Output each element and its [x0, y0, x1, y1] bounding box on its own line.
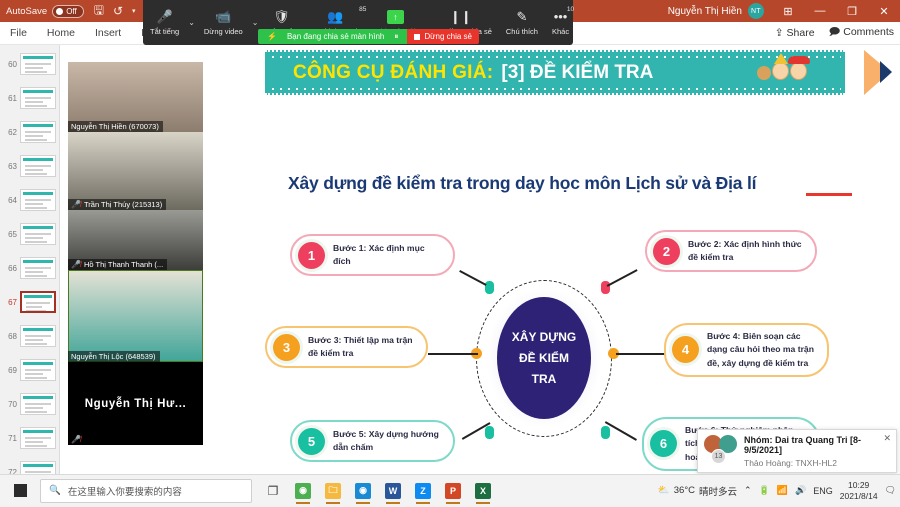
thumbnail-item[interactable]: 69 [0, 353, 59, 387]
step-number-4: 4 [672, 336, 699, 363]
thumbnail-item[interactable]: 67 [0, 285, 59, 319]
thumbnail-number: 63 [2, 162, 17, 171]
network-icon[interactable]: 📶 [777, 485, 788, 496]
step-card-2[interactable]: 2 Bước 2: Xác định hình thức đề kiểm tra [645, 230, 817, 272]
slide-thumbnail-pane[interactable]: 606162636465666768697071727374 [0, 45, 60, 484]
more-ellipsis-icon: ••• [554, 9, 568, 25]
bear-icon [757, 66, 771, 80]
thumbnail-item[interactable]: 71 [0, 421, 59, 455]
powerpoint-icon[interactable]: P [440, 477, 466, 505]
edge-icon[interactable]: ◉ [350, 477, 376, 505]
tab-file[interactable]: File [0, 24, 37, 42]
video-camera-icon: 📹 [215, 9, 231, 25]
zoom-toolbar-badge: 85 [359, 6, 366, 13]
thumbnail-number: 60 [2, 60, 17, 69]
thumbnail-item[interactable]: 64 [0, 183, 59, 217]
chevron-down-icon[interactable]: ⌄ [250, 18, 261, 27]
thumbnail-number: 64 [2, 196, 17, 205]
center-oval: XÂY DỰNG ĐỀ KIỂM TRA [497, 297, 591, 419]
thumbnail-preview[interactable] [20, 87, 56, 109]
toast-close-icon[interactable]: ✕ [883, 433, 891, 444]
kid-yellow-hat-icon [772, 62, 789, 80]
thumbnail-number: 62 [2, 128, 17, 137]
step-card-1[interactable]: 1 Bước 1: Xác định mục đích [290, 234, 455, 276]
start-button[interactable] [0, 475, 40, 507]
thumbnail-item[interactable]: 63 [0, 149, 59, 183]
step-number-1: 1 [298, 242, 325, 269]
weather-temperature: 36°C [674, 485, 695, 496]
thumbnail-number: 71 [2, 434, 17, 443]
ribbon-right-actions: ⇪Share 🗩Comments [775, 24, 894, 42]
thumbnail-number: 61 [2, 94, 17, 103]
thumbnail-preview[interactable] [20, 257, 56, 279]
thumbnail-preview[interactable] [20, 359, 56, 381]
chevron-down-icon[interactable]: ⌄ [186, 18, 197, 27]
connector-3 [428, 353, 478, 355]
thumbnail-number: 69 [2, 366, 17, 375]
zoom-toolbar-annotate-pencil[interactable]: ✎Chú thích [499, 0, 545, 45]
annotate-pencil-icon: ✎ [516, 9, 527, 25]
thumbnail-item[interactable]: 60 [0, 47, 59, 81]
shield-icon: 🛡 [273, 9, 290, 25]
toast-avatar-group: 13 [704, 435, 738, 467]
pencil-lead-icon [880, 61, 892, 83]
thumbnail-item[interactable]: 65 [0, 217, 59, 251]
video-tile-name: Nguyễn Thị Lộc (648539) [71, 352, 156, 361]
microphone-muted-icon: 🎤̸ [71, 435, 81, 444]
step-number-6: 6 [650, 430, 677, 457]
share-icon: ⇪ [775, 27, 784, 39]
video-tile-name: Hồ Thị Thanh Thanh (... [84, 260, 163, 269]
video-tile-name-bar: Nguyễn Thị Hiền (670073) [68, 121, 163, 132]
step-number-5: 5 [298, 428, 325, 455]
volume-icon[interactable]: 🔊 [795, 485, 806, 496]
banner-dots-bottom-icon [269, 87, 841, 90]
video-tile-name: Nguyễn Thị Hư... [85, 398, 187, 410]
task-view-icon[interactable]: ❐ [260, 477, 286, 505]
kid-red-hat-icon [790, 62, 807, 80]
share-label: Share [787, 27, 815, 39]
minimize-button[interactable]: — [804, 0, 836, 22]
video-tile[interactable]: Nguyễn Thị Hư...🎤̸ [68, 362, 203, 445]
zoom-toolbar-label: Khác [552, 27, 569, 36]
chat-notification-toast[interactable]: ✕ 13 Nhóm: Dai tra Quang Tri [8-9/5/2021… [697, 429, 897, 473]
edge-icon-glyph: ◉ [355, 483, 371, 499]
thumbnail-preview[interactable] [20, 393, 56, 415]
microphone-muted-icon: 🎤̸ [71, 260, 81, 269]
center-line-1: XÂY DỰNG [512, 327, 576, 348]
microphone-muted-icon: 🎤̸ [71, 200, 81, 209]
chrome-icon[interactable]: ◉ [290, 477, 316, 505]
zoom-share-status-bar: ⚡ Bạn đang chia sẻ màn hình ⏸ Dừng chia … [258, 29, 479, 44]
stop-square-icon [414, 34, 420, 40]
thumbnail-number: 70 [2, 400, 17, 409]
banner-title-primary: CÔNG CỤ ĐÁNH GIÁ: [293, 62, 493, 84]
comments-button[interactable]: 🗩Comments [829, 24, 894, 42]
battery-icon[interactable]: 🔋 [759, 485, 770, 496]
zoom-toolbar-badge: 10 [567, 6, 574, 13]
microphone-icon: 🎤 [157, 9, 173, 25]
step-card-3[interactable]: 3 Bước 3: Thiết lập ma trận đề kiểm tra [265, 326, 428, 368]
step-number-3: 3 [273, 334, 300, 361]
chrome-icon-glyph: ◉ [295, 483, 311, 499]
search-placeholder: 在这里输入你要搜索的内容 [68, 484, 182, 498]
tray-expand-icon[interactable]: ⌃ [744, 485, 752, 496]
weather-widget[interactable]: ⛅ 36°C 晴时多云 [658, 484, 737, 498]
avatar[interactable]: NT [748, 3, 764, 19]
thumbnail-preview[interactable] [20, 325, 56, 347]
zoom-toolbar-label: Chú thích [506, 27, 538, 36]
heading-rule [806, 193, 852, 196]
sharing-notice: ⚡ Bạn đang chia sẻ màn hình ⏸ [258, 29, 407, 44]
zoom-toolbar-microphone[interactable]: 🎤Tắt tiếng [143, 0, 186, 45]
autosave-label: AutoSave [6, 6, 47, 17]
file-explorer-icon-glyph: 🗀 [325, 483, 341, 499]
taskbar-search-box[interactable]: 🔍 在这里输入你要搜索的内容 [40, 479, 252, 503]
windows-taskbar: 🔍 在这里输入你要搜索的内容 ❐◉🗀◉WZPX ⛅ 36°C 晴时多云 ⌃ 🔋 … [0, 474, 900, 506]
video-tile-name-bar: 🎤̸Hồ Thị Thanh Thanh (... [68, 259, 167, 270]
zoom-toolbar-label: Dừng video [204, 27, 243, 36]
thumbnail-item[interactable]: 68 [0, 319, 59, 353]
comment-icon: 🗩 [829, 26, 841, 38]
zalo-icon[interactable]: Z [410, 477, 436, 505]
autosave-state: Off [66, 7, 77, 16]
undo-icon[interactable]: ↺ [113, 4, 123, 18]
chevron-down-icon[interactable]: ▾ [132, 7, 136, 15]
powerpoint-icon-glyph: P [445, 483, 461, 499]
center-line-3: TRA [532, 369, 557, 390]
sharing-notice-label: Bạn đang chia sẻ màn hình [287, 32, 384, 41]
clock-time: 10:29 [840, 480, 878, 491]
zoom-toolbar-more-ellipsis[interactable]: •••Khác10 [545, 0, 576, 45]
thumbnail-preview[interactable] [20, 121, 56, 143]
banner-dots-top-icon [269, 55, 841, 58]
autosave-control[interactable]: AutoSave Off [0, 5, 84, 18]
tab-insert[interactable]: Insert [85, 24, 131, 42]
excel-icon-glyph: X [475, 483, 491, 499]
step-card-5[interactable]: 5 Bước 5: Xây dựng hướng dẫn chấm [290, 420, 455, 462]
save-icon[interactable]: 🖫 [94, 1, 104, 22]
video-tile[interactable]: Nguyễn Thị Hiền (670073) [68, 62, 203, 132]
thumbnail-number: 66 [2, 264, 17, 273]
ring-dot-tl [485, 281, 494, 294]
search-icon: 🔍 [49, 485, 61, 496]
toast-message: Thảo Hoàng: TNXH-HL2 [744, 458, 890, 468]
ribbon-display-options-icon[interactable]: ⊞ [772, 0, 804, 22]
connector-4 [616, 353, 666, 355]
participants-icon: 👥 [327, 9, 343, 25]
zoom-toolbar-video-camera[interactable]: 📹Dừng video [197, 0, 250, 45]
video-tile[interactable]: Nguyễn Thị Lộc (648539) [68, 270, 203, 362]
action-center-icon[interactable]: 🗨 [885, 485, 896, 496]
sharing-pause-icon[interactable]: ⏸ [394, 32, 398, 42]
step-number-2: 2 [653, 238, 680, 265]
clock-date: 2021/8/14 [840, 491, 878, 502]
share-screen-icon: ↑ [387, 9, 404, 25]
video-tile-name-bar: 🎤̸Trần Thị Thúy (215313) [68, 199, 166, 210]
ring-dot-br [601, 426, 610, 439]
toast-body: Nhóm: Dai tra Quang Tri [8-9/5/2021] Thả… [744, 435, 890, 468]
video-tile-name-bar: Nguyễn Thị Lộc (648539) [68, 351, 160, 362]
step-text-3: Bước 3: Thiết lập ma trận đề kiểm tra [308, 334, 414, 361]
pause-icon: ❙❙ [450, 9, 472, 25]
thumbnail-preview[interactable] [20, 291, 56, 313]
thumbnail-number: 67 [2, 298, 17, 307]
slide-banner: CÔNG CỤ ĐÁNH GIÁ: [3] ĐỀ KIỂM TRA [265, 50, 845, 95]
taskbar-app-icons: ❐◉🗀◉WZPX [260, 477, 496, 505]
thumbnail-preview[interactable] [20, 53, 56, 75]
comments-label: Comments [843, 26, 894, 38]
input-language[interactable]: ENG [813, 486, 833, 496]
thumbnail-preview[interactable] [20, 189, 56, 211]
account-name[interactable]: Nguyễn Thị Hiền [668, 6, 742, 17]
restore-button[interactable]: ❐ [836, 0, 868, 22]
excel-icon[interactable]: X [470, 477, 496, 505]
tab-home[interactable]: Home [37, 24, 85, 42]
word-icon-glyph: W [385, 483, 401, 499]
thumbnail-item[interactable]: 62 [0, 115, 59, 149]
center-line-2: ĐỀ KIỂM [519, 348, 569, 369]
stop-share-button[interactable]: Dừng chia sẻ [407, 29, 479, 44]
thumbnail-item[interactable]: 61 [0, 81, 59, 115]
kids-decoration-icon [757, 62, 807, 80]
zoom-video-panel[interactable]: Nguyễn Thị Hiền (670073)🎤̸Trần Thị Thúy … [68, 62, 203, 445]
weather-description: 晴时多云 [699, 484, 737, 498]
video-tile-name: Nguyễn Thị Hiền (670073) [71, 122, 159, 131]
thumbnail-number: 65 [2, 230, 17, 239]
step-text-5: Bước 5: Xây dựng hướng dẫn chấm [333, 428, 441, 455]
step-text-4: Bước 4: Biên soạn các dạng câu hỏi theo … [707, 330, 815, 370]
ring-dot-bl [485, 426, 494, 439]
step-text-1: Bước 1: Xác định mục đích [333, 242, 441, 269]
thumbnail-item[interactable]: 66 [0, 251, 59, 285]
stop-share-label: Dừng chia sẻ [424, 32, 472, 41]
sharing-bolt-icon: ⚡ [267, 32, 277, 41]
toast-unread-badge: 13 [711, 449, 726, 464]
word-icon[interactable]: W [380, 477, 406, 505]
slide-heading: Xây dựng đề kiểm tra trong dạy học môn L… [288, 173, 756, 194]
clock[interactable]: 10:29 2021/8/14 [840, 480, 878, 501]
connector-2 [607, 269, 638, 286]
video-tile[interactable]: 🎤̸Hồ Thị Thanh Thanh (... [68, 210, 203, 270]
thumbnail-item[interactable]: 70 [0, 387, 59, 421]
step-card-4[interactable]: 4 Bước 4: Biên soạn các dạng câu hỏi the… [664, 323, 829, 377]
step-text-2: Bước 2: Xác định hình thức đề kiểm tra [688, 238, 803, 265]
thumbnail-preview[interactable] [20, 427, 56, 449]
close-button[interactable]: ✕ [868, 0, 900, 22]
windows-logo-icon [14, 484, 27, 497]
file-explorer-icon[interactable]: 🗀 [320, 477, 346, 505]
video-tile-name: Trần Thị Thúy (215313) [84, 200, 162, 209]
sun-cloud-icon: ⛅ [658, 485, 670, 496]
title-bar-right: Nguyễn Thị Hiền NT ⊞ — ❐ ✕ [668, 0, 900, 22]
toast-title: Nhóm: Dai tra Quang Tri [8-9/5/2021] [744, 435, 890, 455]
connector-1 [459, 270, 486, 285]
thumbnail-preview[interactable] [20, 223, 56, 245]
banner-title-secondary: [3] ĐỀ KIỂM TRA [501, 62, 653, 84]
share-button[interactable]: ⇪Share [775, 27, 815, 39]
video-tile[interactable]: 🎤̸Trần Thị Thúy (215313) [68, 132, 203, 210]
thumbnail-preview[interactable] [20, 155, 56, 177]
autosave-knob-icon [56, 8, 63, 15]
thumbnail-number: 68 [2, 332, 17, 341]
zalo-icon-glyph: Z [415, 483, 431, 499]
video-tile-mute-indicator: 🎤̸ [68, 434, 85, 445]
autosave-toggle[interactable]: Off [52, 5, 84, 18]
system-tray: ⛅ 36°C 晴时多云 ⌃ 🔋 📶 🔊 ENG 10:29 2021/8/14 … [658, 480, 896, 501]
zoom-toolbar-label: Tắt tiếng [150, 27, 179, 36]
